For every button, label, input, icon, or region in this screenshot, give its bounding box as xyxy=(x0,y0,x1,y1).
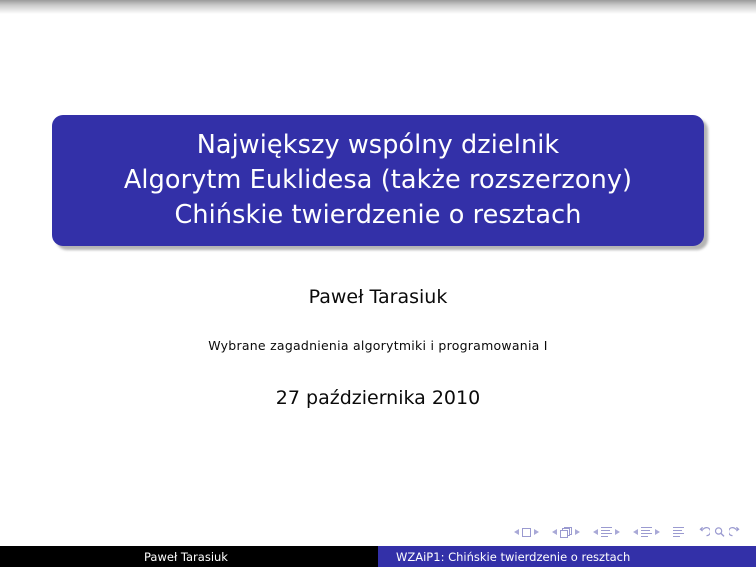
footer-title-section: WZAiP1: Chińskie twierdzenie o resztach xyxy=(378,546,756,567)
institute-line: Wybrane zagadnienia algorytmiki i progra… xyxy=(0,337,756,355)
back-arrow-icon[interactable] xyxy=(697,526,710,538)
search-icon[interactable] xyxy=(713,526,726,538)
document-icon[interactable] xyxy=(673,527,684,537)
previous-frame-icon[interactable] xyxy=(552,529,557,535)
next-frame-icon[interactable] xyxy=(575,529,580,535)
slide-icon[interactable] xyxy=(522,528,531,537)
previous-section-icon[interactable] xyxy=(633,529,638,535)
slide-footer: Paweł Tarasiuk WZAiP1: Chińskie twierdze… xyxy=(0,546,756,567)
next-section-icon[interactable] xyxy=(655,529,660,535)
section-navigation-group[interactable] xyxy=(633,527,660,537)
top-edge-shading xyxy=(0,0,756,14)
title-line-3: Chińskie twierdzenie o resztach xyxy=(174,198,581,233)
previous-subsection-icon[interactable] xyxy=(593,529,598,535)
author-name: Paweł Tarasiuk xyxy=(0,284,756,310)
next-slide-icon[interactable] xyxy=(534,529,539,535)
footer-author-section: Paweł Tarasiuk xyxy=(0,546,378,567)
history-navigation-group[interactable] xyxy=(697,526,742,538)
forward-arrow-icon[interactable] xyxy=(729,526,742,538)
footer-title-label: WZAiP1: Chińskie twierdzenie o resztach xyxy=(396,550,630,564)
title-block-panel: Największy wspólny dzielnik Algorytm Euk… xyxy=(52,115,704,246)
frame-icon[interactable] xyxy=(560,527,572,538)
slide-navigation-group[interactable] xyxy=(514,528,539,537)
subsection-icon[interactable] xyxy=(601,527,612,537)
title-line-2: Algorytm Euklidesa (także rozszerzony) xyxy=(124,163,632,198)
title-line-1: Największy wspólny dzielnik xyxy=(197,128,560,163)
subsection-navigation-group[interactable] xyxy=(593,527,620,537)
section-icon[interactable] xyxy=(641,527,652,537)
next-subsection-icon[interactable] xyxy=(615,529,620,535)
footer-author-label: Paweł Tarasiuk xyxy=(144,550,228,564)
frame-navigation-group[interactable] xyxy=(552,527,580,538)
beamer-navigation-bar[interactable] xyxy=(514,524,742,540)
document-navigation-group[interactable] xyxy=(673,527,684,537)
presentation-date: 27 października 2010 xyxy=(0,385,756,411)
previous-slide-icon[interactable] xyxy=(514,529,519,535)
title-block: Największy wspólny dzielnik Algorytm Euk… xyxy=(52,115,704,246)
presentation-slide: Największy wspólny dzielnik Algorytm Euk… xyxy=(0,0,756,567)
